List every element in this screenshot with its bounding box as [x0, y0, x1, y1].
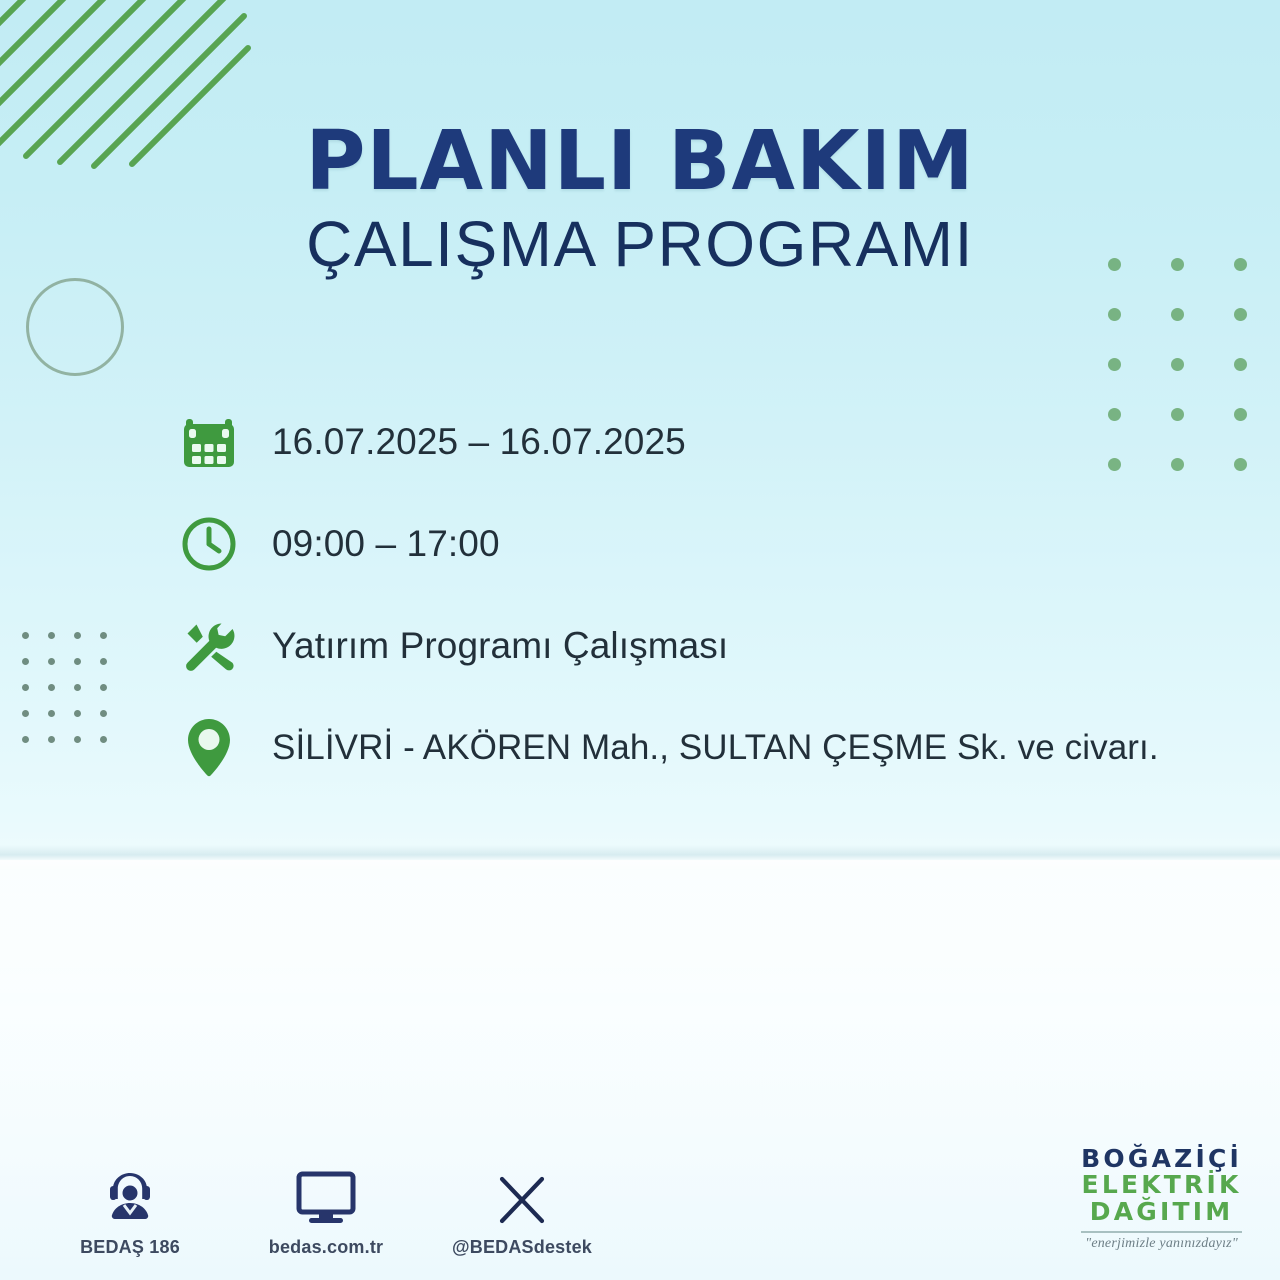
tools-icon — [176, 613, 242, 679]
brand-line-bogazici: BOĞAZİÇİ — [1081, 1146, 1242, 1173]
x-logo-icon — [452, 1165, 592, 1227]
title-main-text: PLANLI BAKIM — [0, 122, 1280, 202]
page-title: PLANLI BAKIM ÇALIŞMA PROGRAMI — [0, 122, 1280, 276]
brand-tagline: "enerjimizle yanınızdayız" — [1081, 1237, 1242, 1252]
footer-item-website[interactable]: bedas.com.tr — [256, 1165, 396, 1258]
calendar-icon — [176, 409, 242, 475]
brand-line-dagitim: DAĞITIM — [1081, 1199, 1242, 1226]
monitor-icon — [256, 1165, 396, 1227]
circle-outline-decoration — [26, 278, 124, 376]
dot-grid-left-decoration — [22, 632, 126, 762]
info-row-work-type: Yatırım Programı Çalışması — [176, 608, 1210, 684]
info-work-type-text: Yatırım Programı Çalışması — [272, 625, 728, 667]
brand-divider — [1081, 1231, 1242, 1233]
footer-item-x-account[interactable]: @BEDASdestek — [452, 1165, 592, 1258]
background-seam — [0, 845, 1280, 871]
clock-icon — [176, 511, 242, 577]
info-time-text: 09:00 – 17:00 — [272, 523, 500, 565]
info-row-date: 16.07.2025 – 16.07.2025 — [176, 404, 1210, 480]
poster-canvas: PLANLI BAKIM ÇALIŞMA PROGRAMI — [0, 0, 1280, 1280]
maintenance-info-list: 16.07.2025 – 16.07.2025 09:00 – 17:00 — [176, 404, 1210, 786]
footer-item-call-center[interactable]: BEDAŞ 186 — [60, 1165, 200, 1258]
brand-logo: BOĞAZİÇİ ELEKTRİK DAĞITIM "enerjimizle y… — [1081, 1146, 1242, 1252]
footer-label-website: bedas.com.tr — [256, 1237, 396, 1258]
footer-contact-bar: BEDAŞ 186 bedas.com.tr — [60, 1165, 592, 1258]
info-row-location: SİLİVRİ - AKÖREN Mah., SULTAN ÇEŞME Sk. … — [176, 710, 1210, 786]
map-pin-icon — [176, 715, 242, 781]
info-location-text: SİLİVRİ - AKÖREN Mah., SULTAN ÇEŞME Sk. … — [272, 728, 1159, 768]
footer-label-x-account: @BEDASdestek — [452, 1237, 592, 1258]
info-row-time: 09:00 – 17:00 — [176, 506, 1210, 582]
title-subtitle-text: ÇALIŞMA PROGRAMI — [0, 212, 1280, 276]
info-date-text: 16.07.2025 – 16.07.2025 — [272, 421, 686, 463]
headset-operator-icon — [60, 1165, 200, 1227]
footer-label-call-center: BEDAŞ 186 — [60, 1237, 200, 1258]
brand-line-elektrik: ELEKTRİK — [1081, 1172, 1242, 1199]
